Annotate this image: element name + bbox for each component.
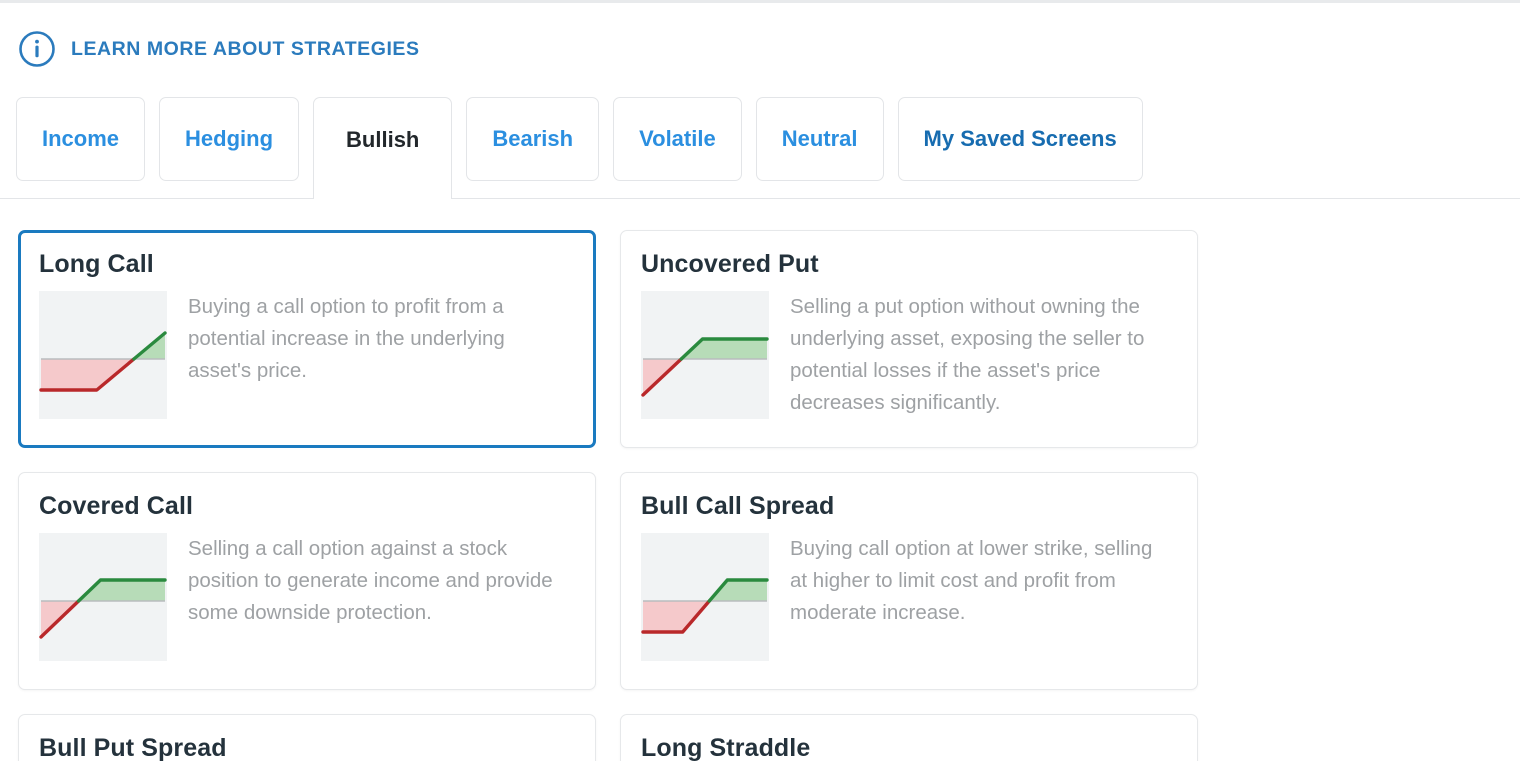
tab-bullish[interactable]: Bullish (313, 97, 452, 199)
strategy-card-long-straddle[interactable]: Long Straddle Buying call and put at sam… (620, 714, 1198, 761)
tab-bearish[interactable]: Bearish (466, 97, 599, 181)
card-description: Selling a call option against a stock po… (188, 533, 573, 629)
tab-hedging[interactable]: Hedging (159, 97, 299, 181)
payoff-diagram-icon (39, 291, 167, 419)
strategy-category-tabs: Income Hedging Bullish Bearish Volatile … (16, 97, 1143, 199)
strategy-card-covered-call[interactable]: Covered Call Selling a call option again… (18, 472, 596, 690)
learn-more-about-strategies-link[interactable]: LEARN MORE ABOUT STRATEGIES (18, 30, 420, 68)
card-title: Bull Call Spread (641, 493, 1175, 521)
card-title: Covered Call (39, 493, 573, 521)
strategy-card-bull-put-spread[interactable]: Bull Put Spread Selling put at higher st… (18, 714, 596, 761)
strategy-card-long-call[interactable]: Long Call Buying a call option to profit… (18, 230, 596, 448)
strategy-card-uncovered-put[interactable]: Uncovered Put Selling a put option witho… (620, 230, 1198, 448)
card-title: Uncovered Put (641, 251, 1175, 279)
strategy-screener-page: LEARN MORE ABOUT STRATEGIES Income Hedgi… (0, 0, 1520, 761)
tab-income[interactable]: Income (16, 97, 145, 181)
top-divider (0, 0, 1520, 3)
card-description: Selling a put option without owning the … (790, 291, 1175, 419)
card-description: Buying a call option to profit from a po… (188, 291, 573, 387)
tab-volatile[interactable]: Volatile (613, 97, 742, 181)
card-title: Bull Put Spread (39, 735, 573, 761)
tab-neutral[interactable]: Neutral (756, 97, 884, 181)
card-description: Buying call option at lower strike, sell… (790, 533, 1175, 629)
payoff-diagram-icon (641, 533, 769, 661)
strategy-card-bull-call-spread[interactable]: Bull Call Spread Buying call option at l… (620, 472, 1198, 690)
info-circle-icon (18, 30, 56, 68)
learn-more-label: LEARN MORE ABOUT STRATEGIES (71, 38, 420, 61)
card-title: Long Straddle (641, 735, 1175, 761)
card-title: Long Call (39, 251, 573, 279)
payoff-diagram-icon (39, 533, 167, 661)
payoff-diagram-icon (641, 291, 769, 419)
tab-my-saved-screens[interactable]: My Saved Screens (898, 97, 1143, 181)
strategy-card-grid: Long Call Buying a call option to profit… (18, 230, 1520, 761)
tabs-bottom-divider (0, 198, 1520, 199)
